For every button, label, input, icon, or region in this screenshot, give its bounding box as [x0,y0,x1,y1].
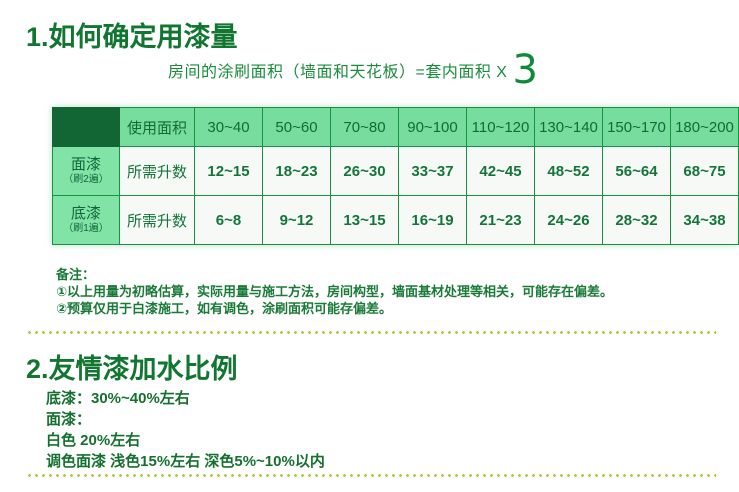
topcoat-value-4: 33~37 [399,147,467,196]
section-two-heading: 2.友情漆加水比例 [26,356,238,383]
ratio-line-topcoat-label: 面漆： [46,409,325,430]
divider-top [26,331,716,334]
paint-usage-infographic: 1.如何确定用漆量 房间的涂刷面积（墙面和天花板）=套内面积 X3 使用面积 3… [0,0,739,492]
ratio-line-tinted: 调色面漆 浅色15%左右 深色5%~10%以内 [46,451,325,472]
ratio-line-primer: 底漆：30%~40%左右 [46,388,325,409]
table-corner-cell [53,108,120,147]
note-item-1: ①以上用量为初略估算，实际用量与施工方法，房间构型，墙面基材处理等相关，可能存在… [56,283,613,300]
table-header-row: 使用面积 30~40 50~60 70~80 90~100 110~120 13… [53,108,739,147]
header-area-label: 使用面积 [120,108,195,147]
primer-value-5: 21~23 [467,196,535,245]
primer-value-7: 28~32 [603,196,671,245]
header-range-4: 90~100 [399,108,467,147]
water-ratio-list: 底漆：30%~40%左右 面漆： 白色 20%左右 调色面漆 浅色15%左右 深… [46,388,325,472]
header-range-3: 70~80 [331,108,399,147]
primer-value-8: 34~38 [671,196,739,245]
row-head-topcoat-sub: （刷2遍） [53,174,119,186]
notes-block: 备注： ①以上用量为初略估算，实际用量与施工方法，房间构型，墙面基材处理等相关，… [56,266,613,317]
row-head-primer-name: 底漆 [53,205,119,222]
primer-value-2: 9~12 [263,196,331,245]
paint-quantity-table: 使用面积 30~40 50~60 70~80 90~100 110~120 13… [52,107,739,245]
notes-title: 备注： [56,266,613,283]
paint-area-formula: 房间的涂刷面积（墙面和天花板）=套内面积 X3 [168,64,533,81]
row-head-topcoat-name: 面漆 [53,156,119,173]
table-row-topcoat: 面漆 （刷2遍） 所需升数 12~15 18~23 26~30 33~37 42… [53,147,739,196]
topcoat-value-7: 56~64 [603,147,671,196]
row-label-primer: 所需升数 [120,196,195,245]
row-head-primer-sub: （刷1遍） [53,223,119,235]
row-head-topcoat: 面漆 （刷2遍） [53,147,120,196]
divider-bottom [26,474,716,477]
topcoat-value-2: 18~23 [263,147,331,196]
note-item-2: ②预算仅用于白漆施工，如有调色，涂刷面积可能存偏差。 [56,300,613,317]
table-row-primer: 底漆 （刷1遍） 所需升数 6~8 9~12 13~15 16~19 21~23… [53,196,739,245]
formula-multiplier: 3 [512,47,537,93]
header-range-5: 110~120 [467,108,535,147]
header-range-2: 50~60 [263,108,331,147]
primer-value-3: 13~15 [331,196,399,245]
section-one-heading: 1.如何确定用漆量 [26,24,238,51]
header-range-1: 30~40 [195,108,263,147]
primer-value-4: 16~19 [399,196,467,245]
topcoat-value-1: 12~15 [195,147,263,196]
row-head-primer: 底漆 （刷1遍） [53,196,120,245]
ratio-line-white: 白色 20%左右 [46,430,325,451]
topcoat-value-8: 68~75 [671,147,739,196]
header-range-7: 150~170 [603,108,671,147]
primer-value-6: 24~26 [535,196,603,245]
header-range-8: 180~200 [671,108,739,147]
header-range-6: 130~140 [535,108,603,147]
topcoat-value-5: 42~45 [467,147,535,196]
topcoat-value-6: 48~52 [535,147,603,196]
topcoat-value-3: 26~30 [331,147,399,196]
primer-value-1: 6~8 [195,196,263,245]
formula-text: 房间的涂刷面积（墙面和天花板）=套内面积 X [168,64,507,81]
row-label-topcoat: 所需升数 [120,147,195,196]
